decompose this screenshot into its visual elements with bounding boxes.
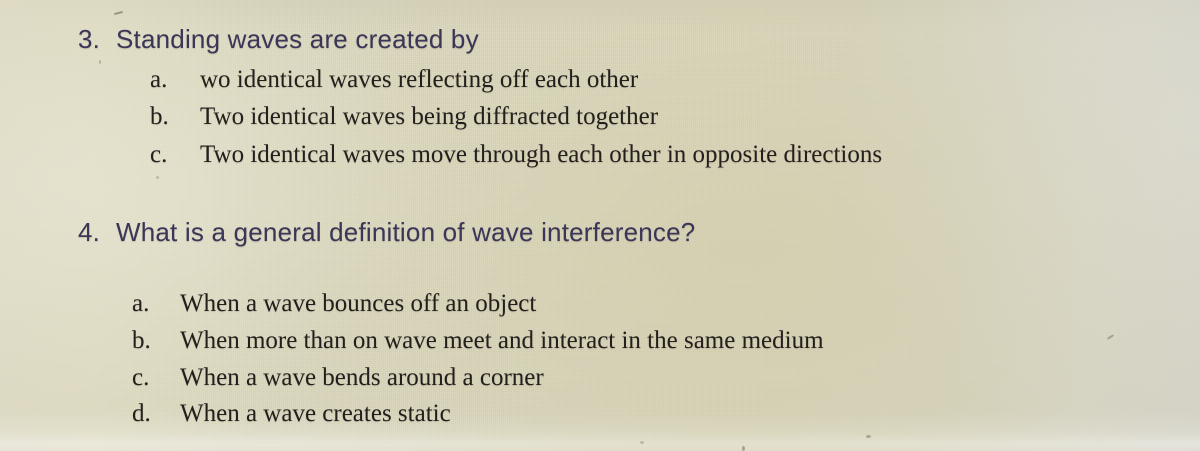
option-text: When more than on wave meet and interact… xyxy=(180,327,824,355)
question-4-heading: 4. What is a general definition of wave … xyxy=(78,217,695,247)
question-4-option-a[interactable]: a. When a wave bounces off an object xyxy=(132,290,536,318)
option-text: When a wave bends around a corner xyxy=(180,364,544,392)
option-marker: b. xyxy=(150,103,200,131)
question-4-number: 4. xyxy=(78,217,116,247)
option-marker: c. xyxy=(150,141,200,169)
question-3-heading: 3. Standing waves are created by xyxy=(78,24,479,54)
paper-speck xyxy=(866,435,871,438)
question-3-option-c[interactable]: c. Two identical waves move through each… xyxy=(150,141,882,169)
option-text: wo identical waves reflecting off each o… xyxy=(200,66,638,94)
question-3-option-b[interactable]: b. Two identical waves being diffracted … xyxy=(150,103,658,131)
question-3-number: 3. xyxy=(78,24,116,54)
option-marker: a. xyxy=(150,66,200,94)
paper-speck xyxy=(742,446,745,451)
question-4-option-d[interactable]: d. When a wave creates static xyxy=(132,400,451,428)
option-marker: b. xyxy=(132,327,180,355)
worksheet-content: 3. Standing waves are created by a. wo i… xyxy=(0,0,1200,451)
question-4-option-c[interactable]: c. When a wave bends around a corner xyxy=(132,364,544,392)
option-text: Two identical waves being diffracted tog… xyxy=(200,103,658,131)
option-text: Two identical waves move through each ot… xyxy=(200,141,882,169)
paper-speck xyxy=(640,441,644,444)
option-marker: d. xyxy=(132,400,180,428)
question-4-option-b[interactable]: b. When more than on wave meet and inter… xyxy=(132,327,824,355)
worksheet-page: 3. Standing waves are created by a. wo i… xyxy=(0,0,1200,451)
question-3-option-a[interactable]: a. wo identical waves reflecting off eac… xyxy=(150,66,638,94)
paper-speck xyxy=(99,60,101,64)
option-text: When a wave creates static xyxy=(180,400,451,428)
option-text: When a wave bounces off an object xyxy=(180,290,536,318)
question-3-prompt: Standing waves are created by xyxy=(116,24,479,54)
paper-speck xyxy=(156,176,159,179)
question-4-prompt: What is a general definition of wave int… xyxy=(116,217,695,247)
option-marker: c. xyxy=(132,364,180,392)
option-marker: a. xyxy=(132,290,180,318)
